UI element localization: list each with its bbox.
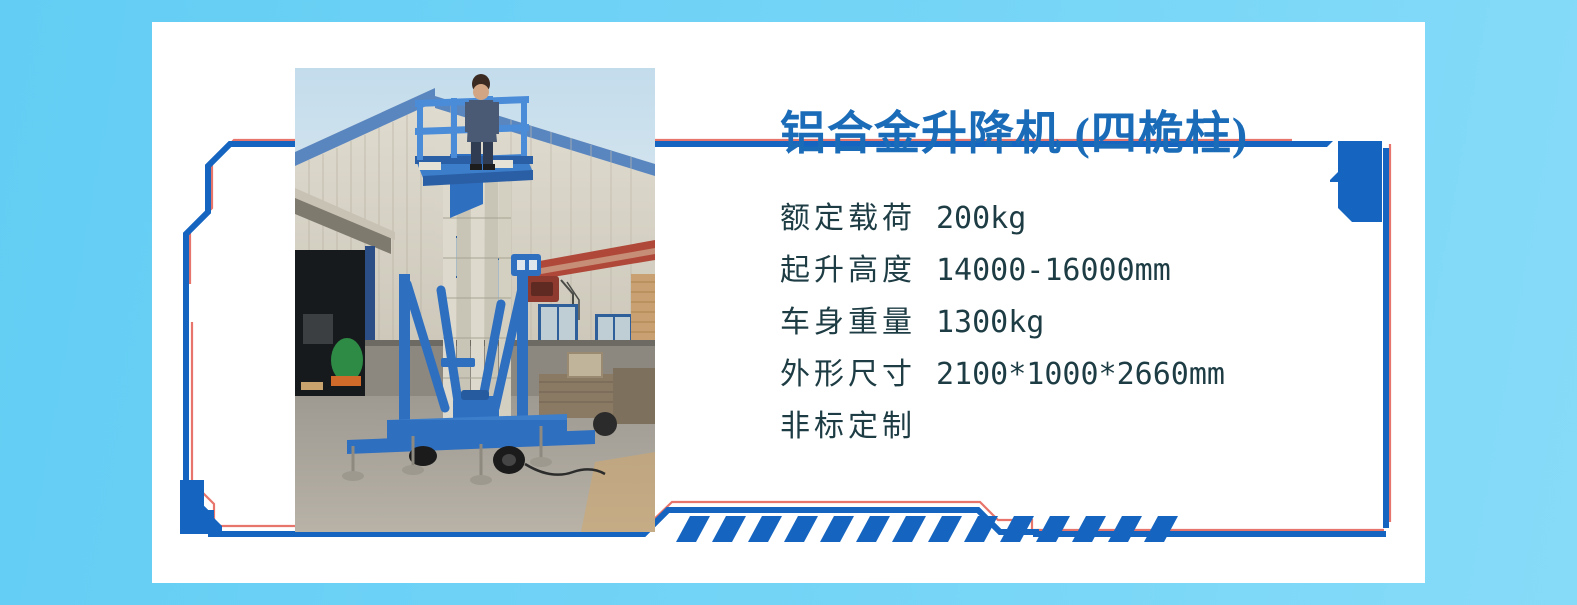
spec-row-rated-load: 额定载荷 200kg	[780, 204, 1380, 234]
spec-list: 额定载荷 200kg 起升高度 14000-16000mm 车身重量 1300k…	[780, 204, 1380, 442]
spec-row-body-weight: 车身重量 1300kg	[780, 308, 1380, 338]
product-photo	[295, 68, 655, 532]
spec-label-custom-order: 非标定制	[780, 412, 916, 442]
spec-row-lifting-height: 起升高度 14000-16000mm	[780, 256, 1380, 286]
spec-value-lifting-height: 14000-16000mm	[936, 256, 1171, 286]
stripe-decoration	[676, 516, 1178, 542]
spec-label-body-weight: 车身重量	[780, 308, 916, 338]
product-photo-image	[295, 68, 655, 532]
spec-label-rated-load: 额定载荷	[780, 204, 916, 234]
product-info: 铝合金升降机 (四桅柱) 额定载荷 200kg 起升高度 14000-16000…	[780, 108, 1380, 464]
spec-row-custom-order: 非标定制	[780, 412, 1380, 442]
spec-row-dimensions: 外形尺寸 2100*1000*2660mm	[780, 360, 1380, 390]
spec-label-lifting-height: 起升高度	[780, 256, 916, 286]
spec-label-dimensions: 外形尺寸	[780, 360, 916, 390]
spec-value-body-weight: 1300kg	[936, 308, 1044, 338]
spec-value-dimensions: 2100*1000*2660mm	[936, 360, 1225, 390]
product-banner: 铝合金升降机 (四桅柱) 额定载荷 200kg 起升高度 14000-16000…	[0, 0, 1577, 605]
white-card: 铝合金升降机 (四桅柱) 额定载荷 200kg 起升高度 14000-16000…	[152, 22, 1425, 583]
product-title: 铝合金升降机 (四桅柱)	[780, 108, 1380, 160]
corner-block-bottom-left	[180, 480, 222, 534]
spec-value-rated-load: 200kg	[936, 204, 1026, 234]
